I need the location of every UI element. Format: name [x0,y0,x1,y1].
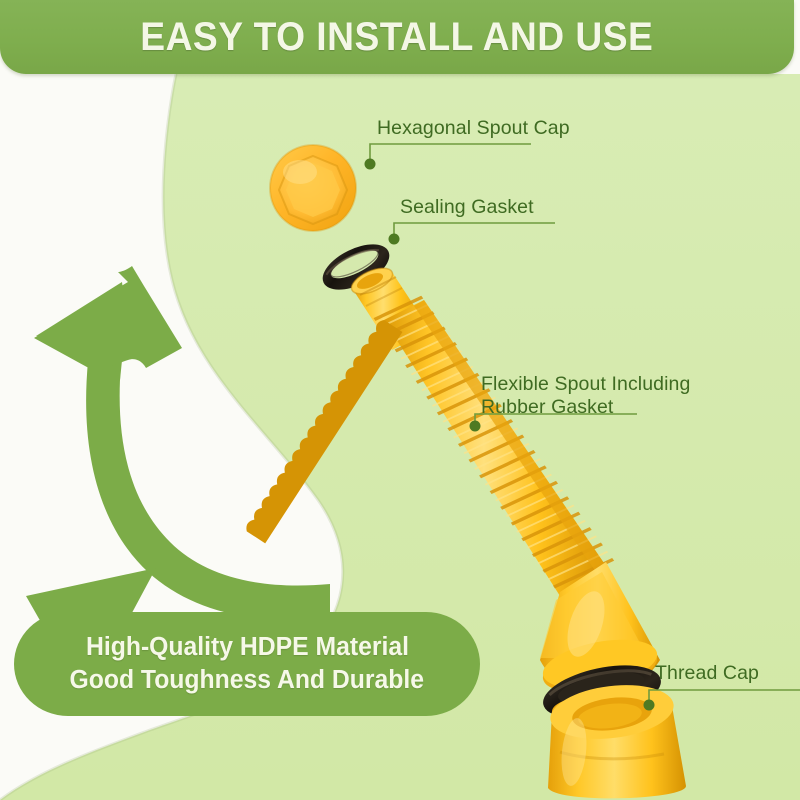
callout-line-1: Flexible Spout Including [481,373,690,396]
callout-dot-icon [644,700,655,711]
callout-label-thread-cap: Thread Cap [655,662,759,685]
callout-dot-icon [365,159,376,170]
callout-dot-icon [470,421,481,432]
callout-line-1: Hexagonal Spout Cap [377,117,570,140]
leader-line-thread-cap [649,690,800,705]
callout-dot-icon [389,234,400,245]
leader-line-sealing-gasket [394,223,555,239]
callout-label-sealing-gasket: Sealing Gasket [400,196,534,219]
callout-label-flexible-spout: Flexible Spout Including Rubber Gasket [481,373,690,419]
leader-line-hexagonal-spout-cap [370,144,531,164]
callout-line-1: Sealing Gasket [400,196,534,219]
callout-line-2: Rubber Gasket [481,396,690,419]
callout-line-1: Thread Cap [655,662,759,685]
callout-label-hexagonal-spout-cap: Hexagonal Spout Cap [377,117,570,140]
infographic-canvas: EASY TO INSTALL AND USE [0,0,800,800]
